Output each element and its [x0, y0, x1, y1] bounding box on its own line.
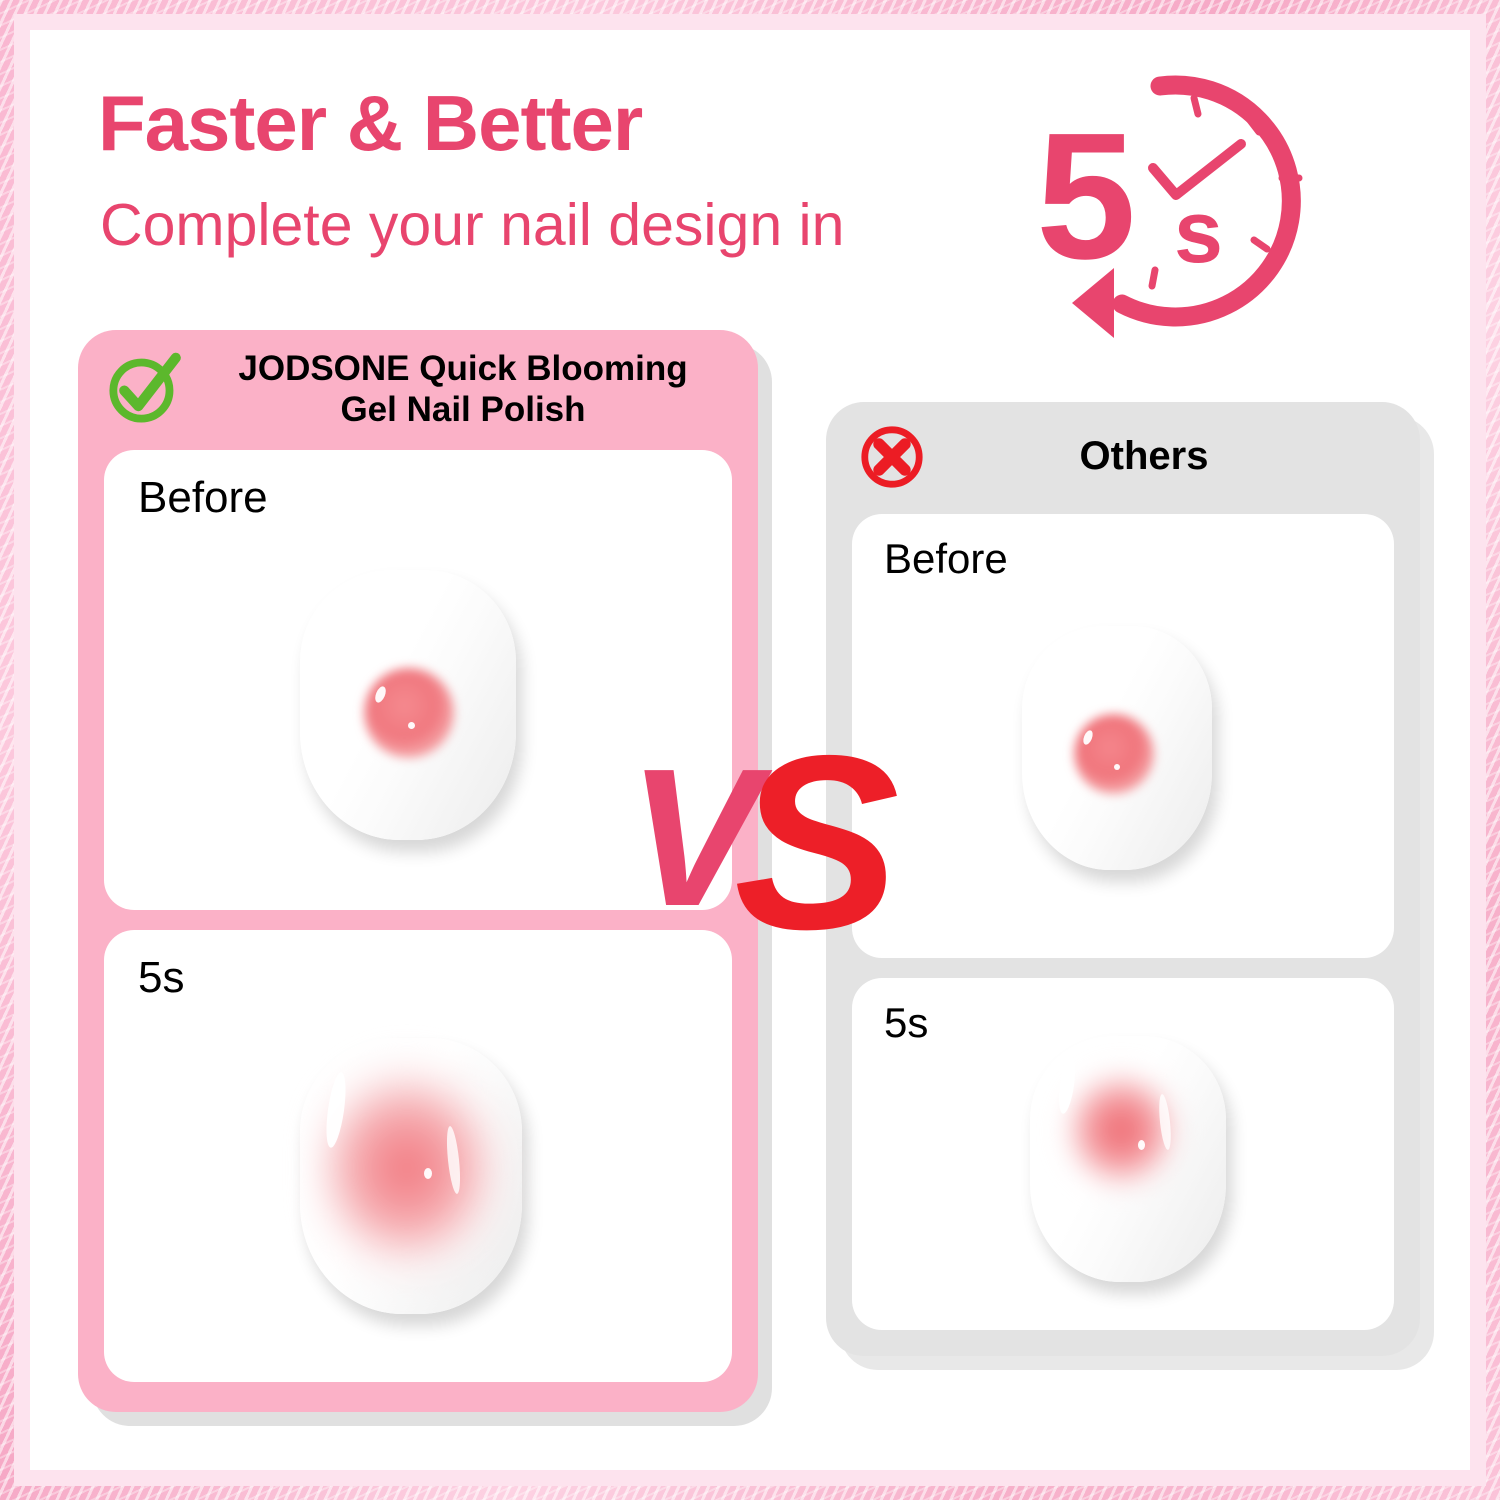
panel-jodsone: JODSONE Quick BloomingGel Nail Polish Be… [78, 330, 758, 1412]
clock-arrow-icon: 5 s [1014, 72, 1334, 344]
card-label-before: Before [884, 538, 1008, 580]
check-circle-icon [104, 350, 182, 428]
nail-polish-dot [364, 668, 454, 758]
nail-highlight [1138, 1140, 1145, 1150]
nail-highlight [1114, 764, 1120, 770]
nail-highlight [324, 627, 350, 702]
nail-image-partial-bloom [1030, 1036, 1226, 1282]
card-jodsone-before: Before [104, 450, 732, 910]
panel-title-line-1: JODSONE Quick Blooming [238, 349, 687, 388]
card-others-5s: 5s [852, 978, 1394, 1330]
card-others-before: Before [852, 514, 1394, 958]
infographic-canvas: Faster & Better Complete your nail desig… [0, 0, 1500, 1500]
headline: Faster & Better [98, 84, 642, 162]
nail-highlight [424, 1168, 432, 1179]
nail-image-bloomed [300, 1038, 522, 1314]
nail-polish-dot [1074, 714, 1154, 794]
nail-polish-bloom [1056, 1060, 1192, 1212]
nail-image-before [300, 570, 516, 840]
panel-others-header: Others [826, 402, 1420, 512]
subheadline: Complete your nail design in [100, 196, 844, 255]
svg-text:5: 5 [1036, 96, 1136, 297]
cross-circle-icon [858, 423, 926, 491]
panel-jodsone-title: JODSONE Quick BloomingGel Nail Polish [182, 348, 758, 431]
nail-highlight [1043, 677, 1066, 742]
card-jodsone-5s: 5s [104, 930, 732, 1382]
nail-image-before [1022, 626, 1212, 870]
card-label-5s: 5s [884, 1002, 928, 1044]
card-label-before: Before [138, 476, 268, 520]
card-label-5s: 5s [138, 956, 184, 1000]
nail-highlight [408, 722, 415, 729]
panel-title-line-2: Gel Nail Polish [340, 390, 585, 429]
panel-others: Others Before 5s [826, 402, 1420, 1356]
svg-text:s: s [1174, 182, 1223, 281]
panel-others-title: Others [926, 433, 1420, 480]
panel-jodsone-header: JODSONE Quick BloomingGel Nail Polish [78, 330, 758, 448]
